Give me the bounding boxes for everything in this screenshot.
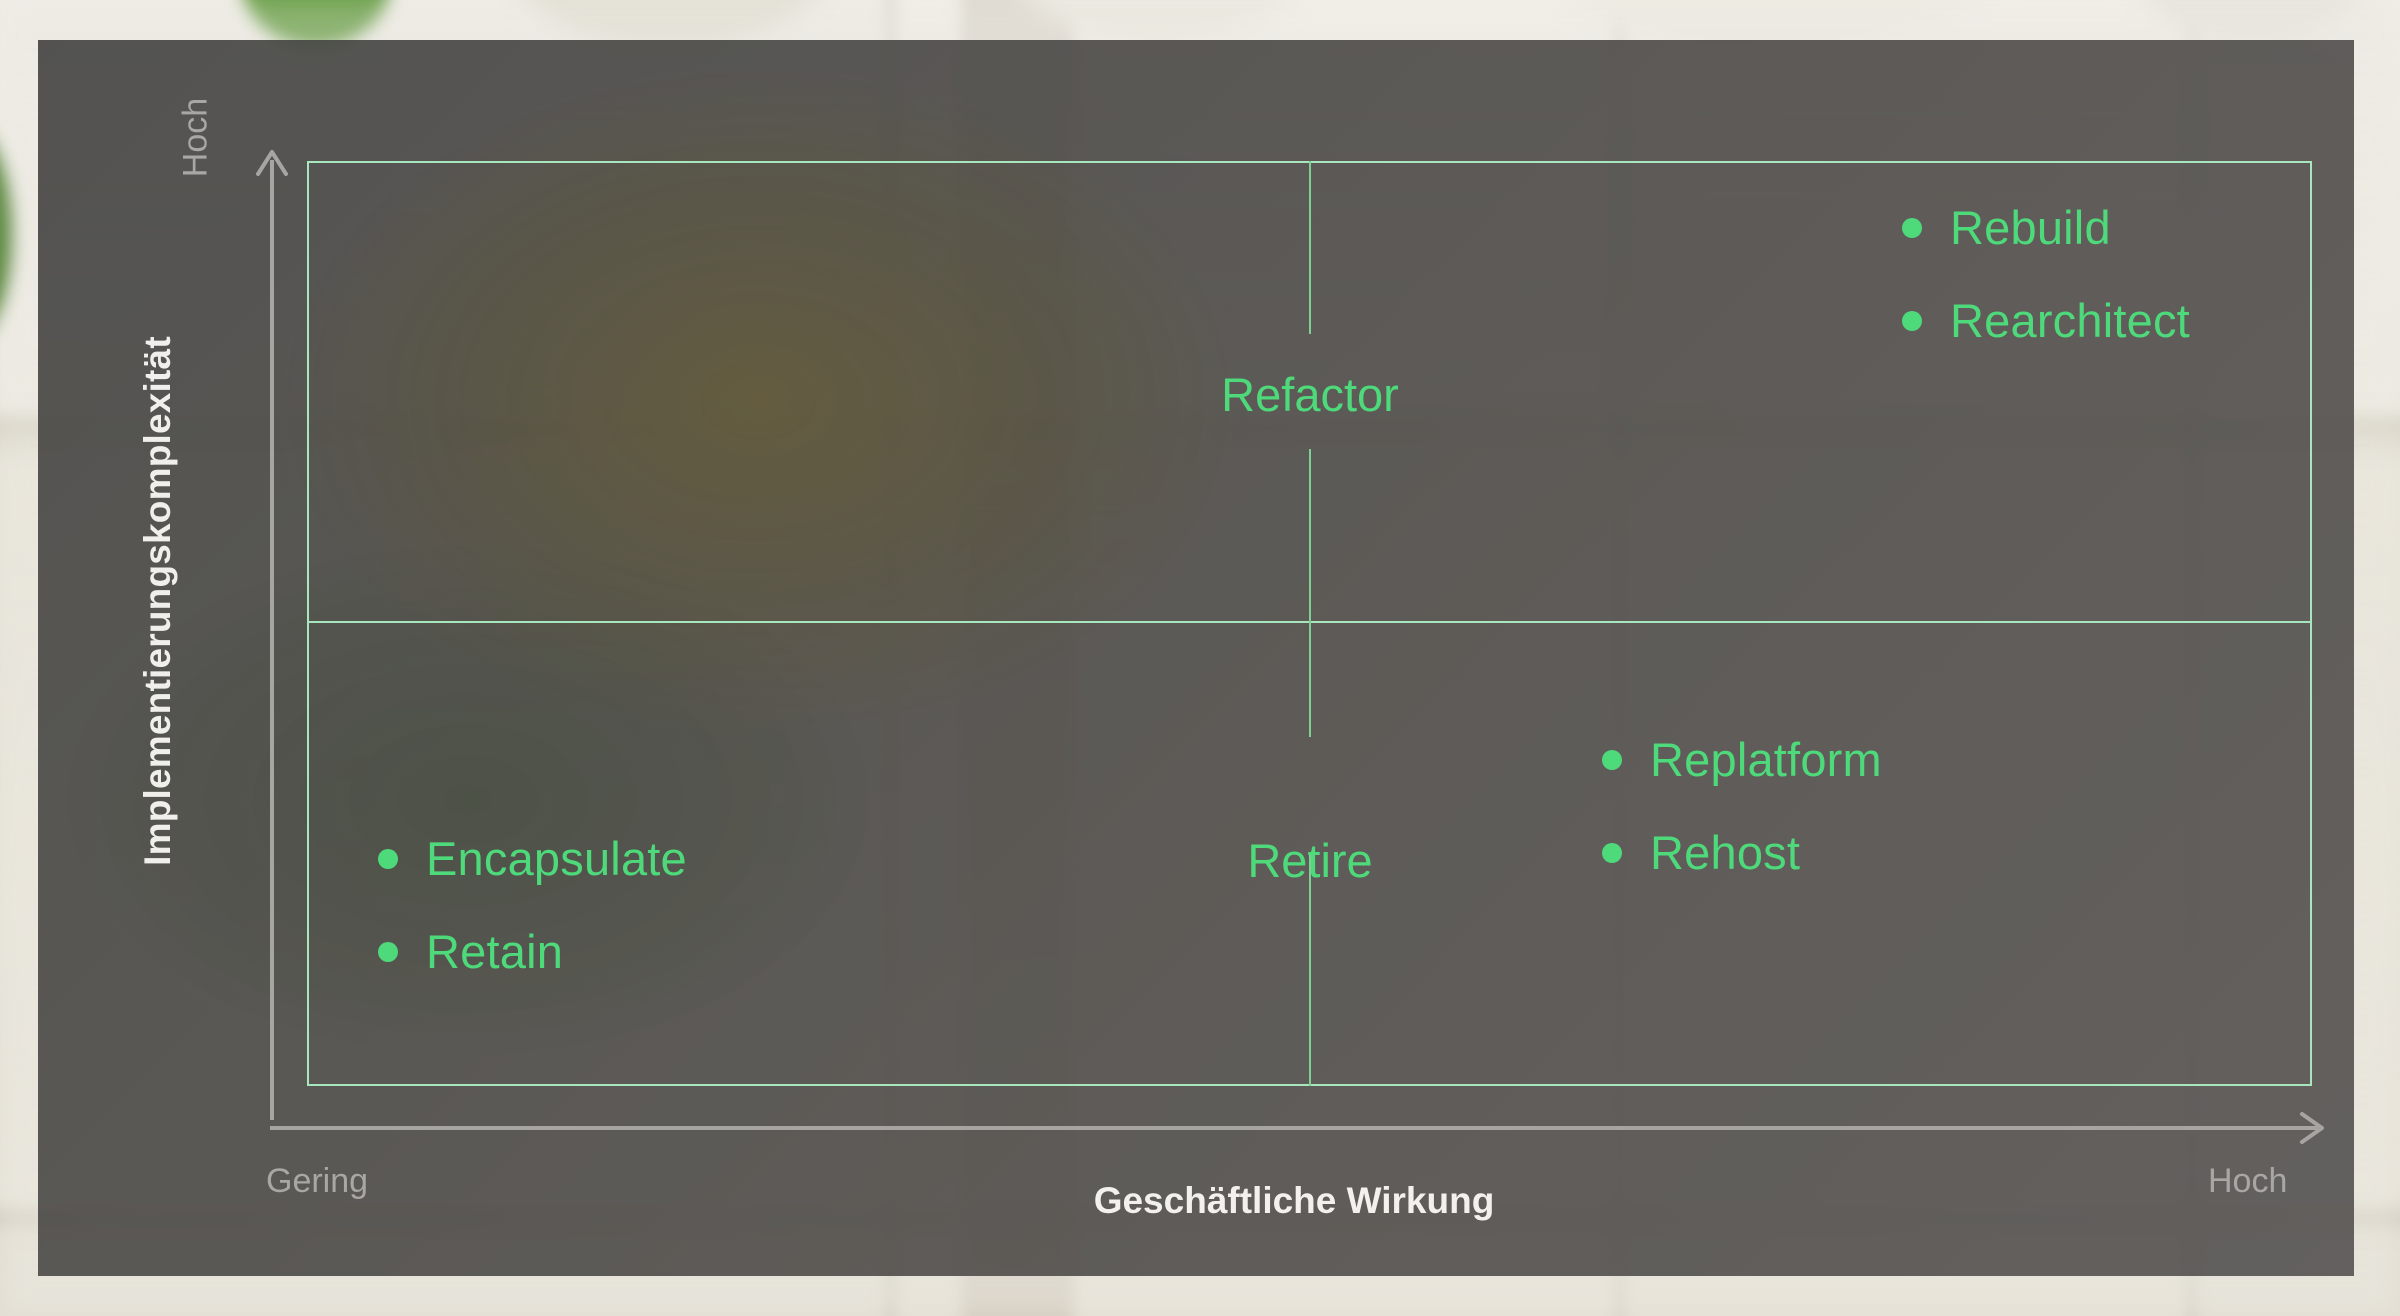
quadrant-item-label: Rehost <box>1650 825 1800 880</box>
quadrant-item-label: Encapsulate <box>426 831 687 886</box>
bullet-icon <box>1902 218 1922 238</box>
quadrant-item-label: Retain <box>426 924 563 979</box>
matrix-vertical-divider-segment-top <box>1309 161 1311 334</box>
y-axis-high-label: Hoch <box>177 58 216 218</box>
bullet-icon <box>1602 843 1622 863</box>
quadrant-item-label: Rebuild <box>1950 200 2111 255</box>
x-axis-line <box>270 1126 2318 1130</box>
list-item: Encapsulate <box>378 831 687 886</box>
bullet-icon <box>1902 311 1922 331</box>
matrix-overlay-panel: Implementierungskomplexität Hoch Geschäf… <box>38 40 2354 1276</box>
list-item: Retain <box>378 924 687 979</box>
x-axis-title: Geschäftliche Wirkung <box>270 1180 2318 1222</box>
divider-label-refactor: Refactor <box>1221 367 1399 422</box>
bullet-icon <box>1602 750 1622 770</box>
bullet-icon <box>378 942 398 962</box>
bullet-icon <box>378 849 398 869</box>
quadrant-top-right-list: Rebuild Rearchitect <box>1902 200 2190 386</box>
quadrant-item-label: Rearchitect <box>1950 293 2190 348</box>
quadrant-bottom-right-list: Replatform Rehost <box>1602 732 1882 918</box>
list-item: Rehost <box>1602 825 1882 880</box>
y-axis-line <box>270 160 274 1120</box>
list-item: Replatform <box>1602 732 1882 787</box>
arrow-up-icon <box>254 146 290 180</box>
matrix-vertical-divider-segment-middle <box>1309 449 1311 737</box>
slide-canvas: Implementierungskomplexität Hoch Geschäf… <box>0 0 2400 1316</box>
x-axis-low-label: Gering <box>266 1162 368 1201</box>
list-item: Rearchitect <box>1902 293 2190 348</box>
arrow-right-icon <box>2294 1111 2330 1145</box>
divider-label-retire: Retire <box>1247 833 1372 888</box>
y-axis-title: Implementierungskomplexität <box>137 251 179 951</box>
x-axis-high-label: Hoch <box>2208 1162 2287 1201</box>
list-item: Rebuild <box>1902 200 2190 255</box>
quadrant-item-label: Replatform <box>1650 732 1882 787</box>
quadrant-bottom-left-list: Encapsulate Retain <box>378 831 687 1017</box>
